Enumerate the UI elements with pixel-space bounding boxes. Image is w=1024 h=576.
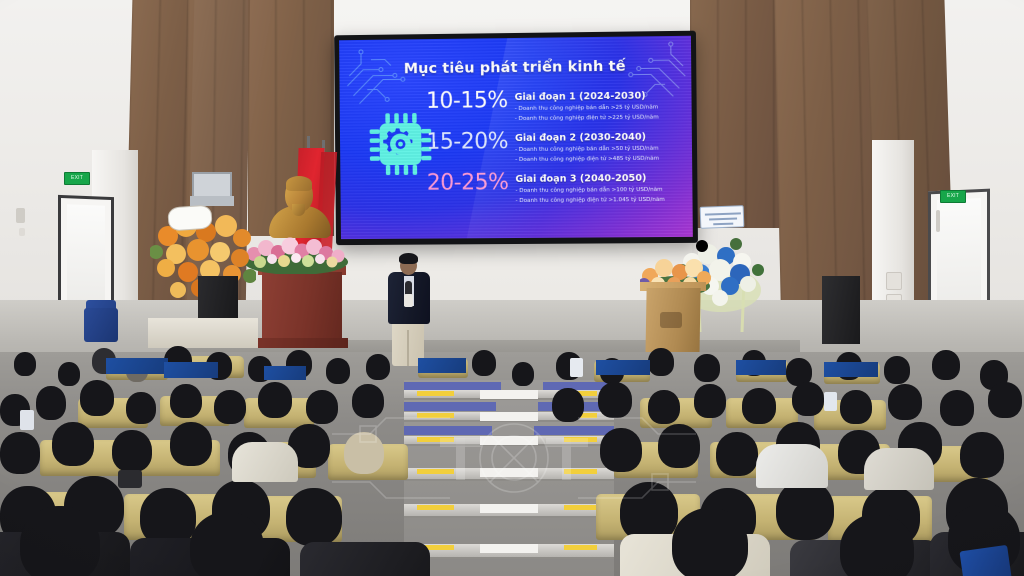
audience-head — [600, 428, 642, 472]
audience-head — [598, 382, 632, 418]
audience-head — [170, 422, 212, 466]
audience-head — [742, 388, 776, 424]
wall-fixture-left-2 — [19, 228, 25, 236]
wall-fixture-right — [936, 210, 940, 232]
phase-label: Giai đoạn 2 (2030-2040) — [515, 132, 684, 145]
slide-surface: Mục tiêu phát triển kinh tế — [339, 36, 693, 239]
flower-greeting-card-left — [167, 204, 213, 231]
audience-head — [512, 362, 534, 386]
growth-percent: 15-20% — [423, 131, 515, 154]
audience-head — [36, 386, 66, 420]
audience-area — [0, 336, 1024, 576]
presentation-screen: Mục tiêu phát triển kinh tế — [334, 31, 698, 245]
bust-hair — [286, 176, 312, 191]
audience-head-front — [190, 512, 264, 576]
audience-head — [658, 424, 700, 468]
audience-head-hat — [344, 432, 384, 474]
audience-jacket-light — [756, 444, 828, 488]
audience-head — [888, 384, 922, 420]
audience-head — [112, 430, 152, 472]
audience-head — [306, 390, 338, 424]
bust-beard — [292, 204, 305, 216]
phase-bullet: - Doanh thu công nghiệp bán dẫn >50 tỷ U… — [515, 145, 684, 154]
audience-head — [352, 384, 384, 418]
back-row-sign — [264, 366, 306, 380]
back-row-sign — [418, 358, 466, 373]
phase-bullet: - Doanh thu công nghiệp điện tử >485 tỷ … — [515, 155, 684, 164]
audience-head — [884, 356, 910, 384]
presenter-hand — [404, 294, 413, 307]
growth-percent: 20-25% — [424, 172, 516, 195]
audience-head — [126, 392, 156, 424]
blue-booklet[interactable] — [959, 545, 1012, 576]
audience-head-front — [672, 508, 748, 576]
audience-head — [648, 390, 680, 424]
audience-head — [960, 432, 1004, 478]
lectern-emblem — [660, 312, 682, 328]
audience-head — [0, 432, 40, 474]
phase-bullet: - Doanh thu công nghiệp bán dẫn >25 tỷ U… — [515, 104, 684, 113]
audience-head — [648, 348, 674, 376]
audience-jacket-light — [232, 442, 298, 482]
phase-bullet: - Doanh thu công nghiệp bán dẫn >100 tỷ … — [515, 187, 684, 196]
audience-head — [792, 382, 824, 416]
slide-row: 20-25% Giai đoạn 3 (2040-2050) - Doanh t… — [424, 171, 685, 206]
slide-rows: 10-15% Giai đoạn 1 (2024-2030) - Doanh t… — [423, 88, 685, 214]
audience-jacket-light — [864, 448, 934, 490]
phase-label: Giai đoạn 3 (2040-2050) — [515, 173, 684, 185]
audience-shoulders — [300, 542, 430, 576]
audience-head — [694, 354, 720, 382]
audience-head — [988, 382, 1022, 418]
audience-head-front — [840, 514, 914, 576]
phase-bullet: - Doanh thu công nghiệp điện tử >1.045 t… — [516, 197, 685, 206]
back-row-sign — [106, 358, 168, 374]
audience-head — [620, 482, 678, 542]
audience-head — [472, 350, 496, 376]
phase-bullet: - Doanh thu công nghiệp điện tử >225 tỷ … — [515, 114, 684, 123]
audience-head — [366, 354, 390, 380]
audience-head — [214, 390, 246, 424]
growth-percent: 10-15% — [423, 90, 515, 113]
audience-head — [940, 390, 974, 426]
audience-head — [840, 390, 872, 424]
phone-screen[interactable] — [570, 358, 583, 377]
slide-row: 15-20% Giai đoạn 2 (2030-2040) - Doanh t… — [423, 130, 684, 166]
audience-head — [552, 388, 584, 422]
wood-panel-center-right — [690, 0, 782, 228]
audience-head — [80, 380, 114, 416]
exit-sign-icon-right: EXIT — [940, 190, 966, 203]
slide-row: 10-15% Giai đoạn 1 (2024-2030) - Doanh t… — [423, 88, 684, 124]
conference-photo: EXIT EXIT — [0, 0, 1024, 576]
back-row-sign — [596, 360, 650, 375]
phase-label: Giai đoạn 1 (2024-2030) — [515, 90, 684, 103]
tablet-device[interactable] — [118, 470, 142, 488]
audience-head — [694, 384, 726, 418]
phone-screen[interactable] — [20, 410, 34, 430]
audience-head — [326, 358, 350, 384]
loudspeaker-right — [822, 276, 860, 344]
audience-head — [58, 362, 80, 386]
audience-head — [170, 384, 202, 418]
wall-fixture-left-1 — [16, 208, 25, 223]
presenter-hair — [399, 253, 418, 264]
audience-head — [286, 488, 342, 546]
back-row-sign — [736, 360, 786, 375]
audience-head — [932, 350, 960, 380]
notice-board — [192, 172, 232, 198]
flower-stand-greeting-card — [700, 205, 745, 229]
audience-head — [14, 352, 36, 376]
audience-head — [258, 382, 292, 418]
audience-head — [716, 432, 758, 476]
phone-screen[interactable] — [824, 392, 837, 411]
back-row-sign — [164, 362, 218, 378]
audience-head — [52, 422, 94, 466]
exit-sign-icon-left: EXIT — [64, 172, 90, 185]
wooden-podium — [262, 272, 342, 346]
pink-flower-arrangement — [244, 228, 348, 274]
audience-head-front — [20, 506, 100, 576]
audience-head — [776, 480, 834, 540]
wall-control-panel[interactable] — [886, 272, 902, 290]
back-row-sign — [824, 362, 878, 377]
